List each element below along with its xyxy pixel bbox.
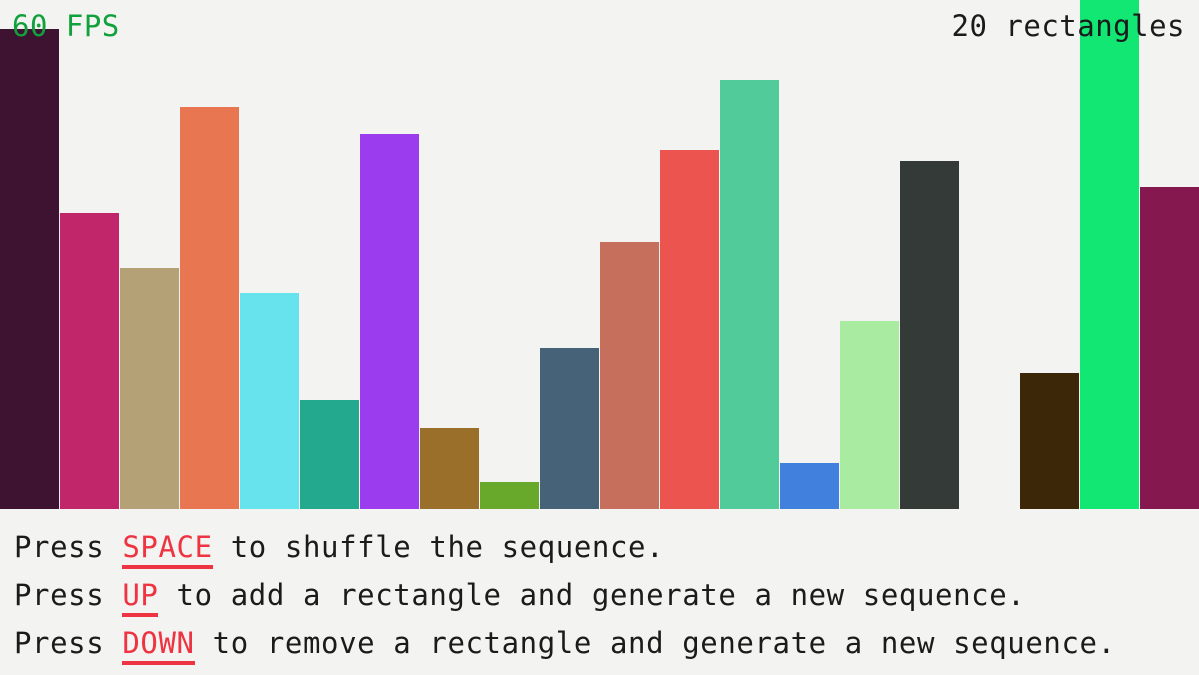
instruction-prefix: Press (14, 530, 122, 564)
bar-rect (1080, 0, 1139, 509)
bar-rect (900, 161, 959, 509)
rectangle-count-label: 20 rectangles (952, 9, 1185, 43)
bar-rect (1140, 187, 1199, 509)
instructions-panel: Press SPACE to shuffle the sequence. Pre… (0, 509, 1199, 675)
key-down[interactable]: DOWN (122, 626, 194, 665)
bar-rect (540, 348, 599, 509)
key-space[interactable]: SPACE (122, 530, 212, 569)
bar-rect (600, 242, 659, 509)
bar-rect (300, 400, 359, 509)
fps-counter: 60 FPS (12, 9, 120, 43)
bar-chart-canvas[interactable] (0, 0, 1199, 509)
bar-rect (420, 428, 479, 509)
instruction-suffix: to add a rectangle and generate a new se… (158, 578, 1025, 612)
instruction-suffix: to remove a rectangle and generate a new… (195, 626, 1116, 660)
bar-rect (780, 463, 839, 509)
instruction-line-add: Press UP to add a rectangle and generate… (14, 580, 1025, 610)
bar-rect (480, 482, 539, 509)
rectangle-sorting-demo-app: 60 FPS 20 rectangles Press SPACE to shuf… (0, 0, 1199, 675)
instruction-prefix: Press (14, 578, 122, 612)
bar-rect (60, 213, 119, 509)
bar-rect (120, 268, 179, 509)
bar-rect (0, 29, 59, 509)
key-up[interactable]: UP (122, 578, 158, 617)
bar-rect (840, 321, 899, 509)
instruction-prefix: Press (14, 626, 122, 660)
bar-rect (1020, 373, 1079, 509)
bar-rect (240, 293, 299, 509)
bar-rect (720, 80, 779, 509)
bar-rect (660, 150, 719, 509)
instruction-line-remove: Press DOWN to remove a rectangle and gen… (14, 628, 1116, 658)
bar-rect (360, 134, 419, 509)
bar-rect (180, 107, 239, 509)
instruction-suffix: to shuffle the sequence. (213, 530, 665, 564)
instruction-line-shuffle: Press SPACE to shuffle the sequence. (14, 532, 664, 562)
